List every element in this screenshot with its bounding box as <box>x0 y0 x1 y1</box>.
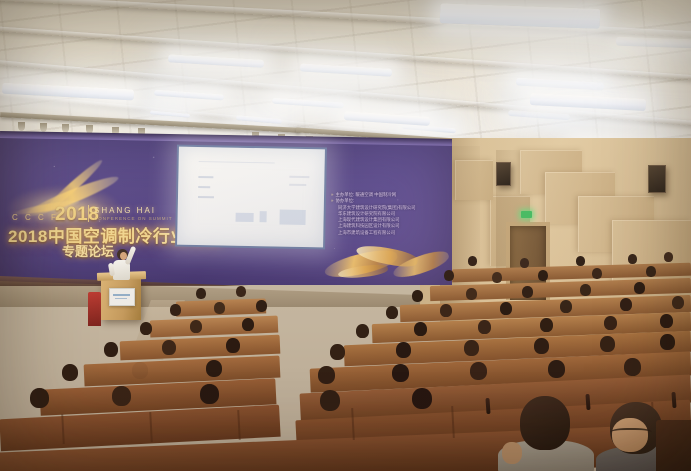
exit-sign-icon <box>521 211 532 218</box>
slide-text-line <box>198 196 214 198</box>
head <box>628 254 637 264</box>
banner-divider <box>88 205 89 222</box>
head <box>206 360 222 377</box>
placard-text <box>113 294 130 296</box>
head <box>522 286 533 298</box>
head <box>440 304 452 317</box>
head <box>236 286 246 297</box>
wall-speaker <box>496 162 511 186</box>
head <box>356 324 369 338</box>
eyeglasses-icon <box>610 428 652 439</box>
banner-org-code: C C C F <box>12 213 58 222</box>
head <box>500 302 512 315</box>
head <box>646 266 656 277</box>
credit-text: 同济大学建筑设计研究院(集团)有限公司 <box>338 205 416 210</box>
placard-text <box>115 298 127 299</box>
head <box>132 362 148 379</box>
head <box>560 300 572 313</box>
head <box>520 258 529 268</box>
credit-text: 协办单位: <box>335 198 354 203</box>
head <box>468 256 477 266</box>
credit-text: 上海现代建筑设计集团有限公司 <box>338 217 399 222</box>
slide-text-line <box>289 176 309 178</box>
head <box>256 300 267 312</box>
head <box>200 384 219 404</box>
head <box>478 320 491 334</box>
head <box>540 318 553 332</box>
head <box>464 340 479 356</box>
foreground-seat-silhouette <box>656 420 691 471</box>
head <box>620 298 632 311</box>
head <box>318 366 335 384</box>
head <box>140 322 152 335</box>
projection-screen-frame <box>175 145 327 250</box>
head <box>492 272 502 283</box>
stage-spotlight <box>40 123 47 132</box>
head <box>392 364 409 382</box>
slide-text-line <box>199 176 214 178</box>
slide-text-line <box>289 184 307 186</box>
head <box>634 282 645 294</box>
head <box>660 314 673 328</box>
credit-text: 主办单位: 暖通空调 中国制冷网 <box>335 192 396 197</box>
wall-speaker <box>648 165 666 193</box>
projection-screen <box>177 147 325 248</box>
stage-side-object <box>88 292 101 326</box>
presenter <box>104 248 144 282</box>
bullet-arrow-icon: » <box>331 192 332 197</box>
head <box>664 252 673 262</box>
head <box>444 270 454 281</box>
slide-figure <box>259 211 267 223</box>
credit-line: 上海市建筑设备工程有限公司 <box>331 230 416 236</box>
head <box>104 342 118 357</box>
head <box>660 334 675 350</box>
bullet-arrow-icon: » <box>331 198 332 203</box>
head <box>196 288 206 299</box>
head <box>672 296 684 309</box>
banner-city-en: SHANG HAI <box>94 206 156 215</box>
hand <box>502 442 522 464</box>
head <box>30 388 49 408</box>
head <box>624 358 641 376</box>
head <box>320 390 340 411</box>
head <box>548 360 565 378</box>
head <box>412 388 432 409</box>
head <box>412 290 423 302</box>
head <box>414 322 427 336</box>
head <box>170 304 181 316</box>
head <box>242 318 254 331</box>
head <box>226 338 240 353</box>
seat-row[interactable] <box>150 316 279 338</box>
head <box>214 302 225 314</box>
head <box>190 320 202 333</box>
head <box>534 338 549 354</box>
podium-placard <box>109 288 135 306</box>
credit-text: 华东建筑设计研究院有限公司 <box>338 211 395 216</box>
head <box>520 396 570 450</box>
head <box>600 336 615 352</box>
foreground-attendee-left <box>498 396 594 471</box>
head <box>576 256 585 266</box>
head <box>396 342 411 358</box>
head <box>580 284 591 296</box>
banner-credits-block: »主办单位: 暖通空调 中国制冷网 »协办单位: 同济大学建筑设计研究院(集团)… <box>331 192 416 236</box>
head <box>470 362 487 380</box>
banner-city-sub: CONFERENCE ON SUMMIT <box>94 216 173 221</box>
head <box>62 364 78 381</box>
slide-figure <box>280 209 307 225</box>
stage-spotlight <box>18 122 25 131</box>
head <box>386 306 398 319</box>
head <box>162 340 176 355</box>
head <box>538 270 548 281</box>
head <box>466 288 477 300</box>
auditorium-photo: C C C F 2018 SHANG HAI CONFERENCE ON SUM… <box>0 0 691 471</box>
head <box>330 344 345 360</box>
head <box>112 386 131 406</box>
credit-text: 上海建筑科技园区设计有限公司 <box>338 223 399 228</box>
slide-text-line <box>199 186 211 188</box>
credit-text: 上海市建筑设备工程有限公司 <box>338 230 395 235</box>
slide-figure <box>236 212 254 222</box>
head <box>592 268 602 279</box>
slide-text-line <box>199 161 275 164</box>
head <box>604 316 617 330</box>
